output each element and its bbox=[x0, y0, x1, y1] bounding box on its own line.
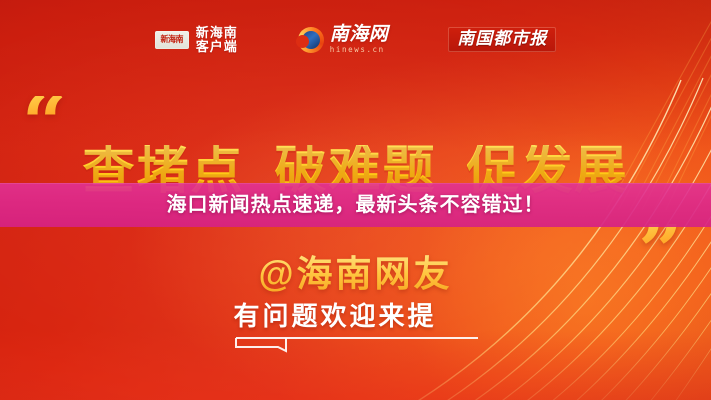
xinhainan-mark-label: 新海南 bbox=[160, 35, 183, 43]
headline-band: 海口新闻热点速递，最新头条不容错过！ bbox=[0, 183, 711, 227]
logo-strip: 新海南 新海南 客户端 南海网 hinews.cn 南国都市报 bbox=[0, 25, 711, 54]
xinhainan-mark-icon: 新海南 bbox=[155, 31, 189, 49]
hinews-name-cn: 南海网 bbox=[330, 25, 389, 44]
xinhainan-wordmark: 新海南 客户端 bbox=[196, 26, 238, 54]
lower-block: @海南网友 有问题欢迎来提 bbox=[0, 254, 711, 352]
hinews-wordmark: 南海网 hinews.cn bbox=[330, 25, 389, 54]
quote-open-icon: “ bbox=[22, 96, 67, 152]
logo-nanguo-metropolis-daily[interactable]: 南国都市报 bbox=[448, 27, 556, 52]
nanguo-wordmark: 南国都市报 bbox=[457, 30, 547, 49]
hinews-name-en: hinews.cn bbox=[330, 45, 385, 54]
poster-root: 新海南 新海南 客户端 南海网 hinews.cn 南国都市报 “ ” bbox=[0, 0, 711, 400]
invite-text: 有问题欢迎来提 bbox=[234, 301, 478, 331]
invite-wrap: 有问题欢迎来提 bbox=[234, 301, 478, 352]
xinhainan-line-2: 客户端 bbox=[196, 40, 238, 54]
handle-text: @海南网友 bbox=[258, 254, 452, 294]
speech-bubble-underline-icon bbox=[234, 336, 478, 352]
logo-hinews[interactable]: 南海网 hinews.cn bbox=[298, 25, 389, 54]
logo-xinhainan-app[interactable]: 新海南 新海南 客户端 bbox=[155, 26, 238, 54]
xinhainan-line-1: 新海南 bbox=[196, 26, 238, 40]
headline-text: 海口新闻热点速递，最新头条不容错过！ bbox=[167, 194, 545, 216]
swirl-orb-icon bbox=[298, 27, 324, 53]
